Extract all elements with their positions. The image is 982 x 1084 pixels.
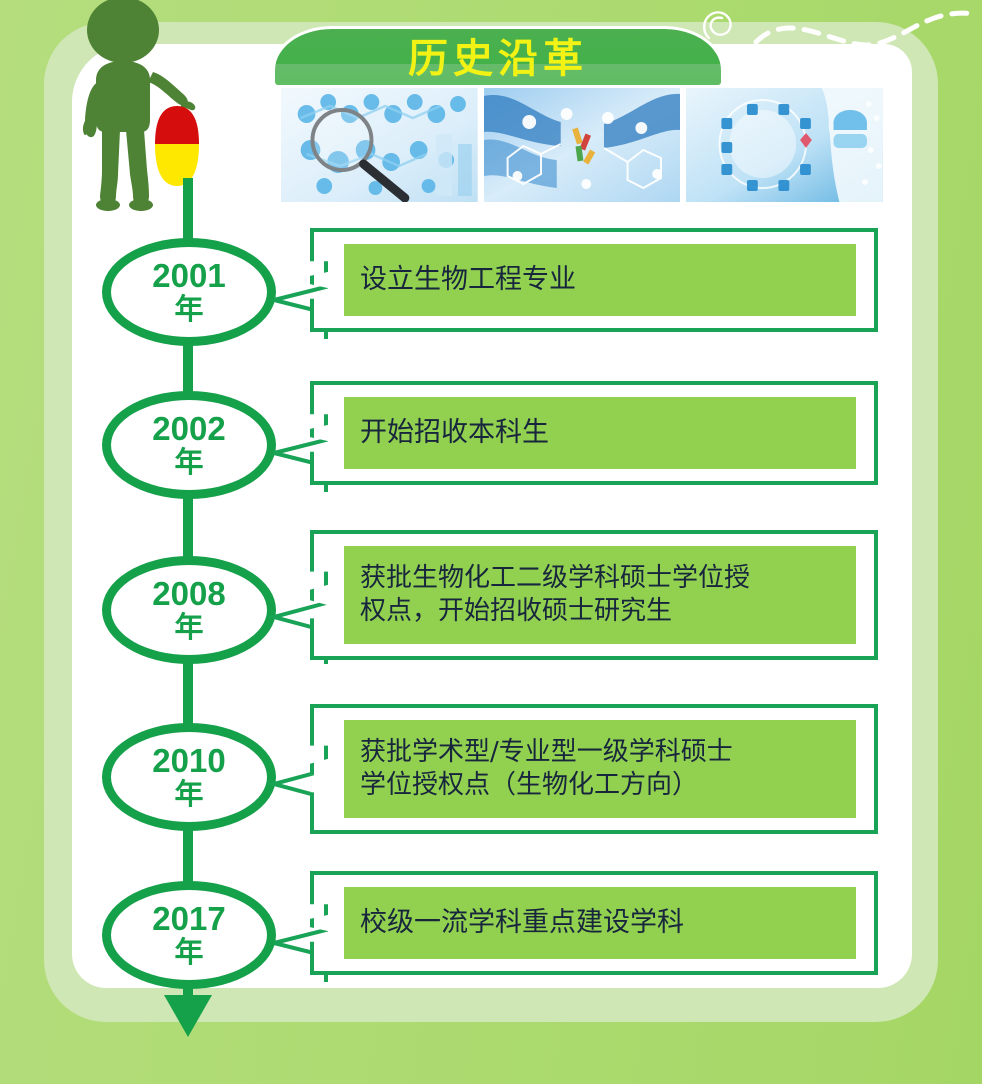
- timeline-node-2002[interactable]: 2002 年: [102, 391, 276, 499]
- timeline-callout-2010[interactable]: 获批学术型/专业型一级学科硕士 学位授权点（生物化工方向）: [310, 704, 878, 834]
- medical-tech-interface-photo: [686, 88, 883, 202]
- callout-inner-panel: 设立生物工程专业: [344, 244, 856, 316]
- callout-text: 开始招收本科生: [344, 415, 557, 450]
- node-year-suffix: 年: [174, 295, 203, 325]
- gloved-hands-molecule-photo: [484, 88, 681, 202]
- timeline-node-2001[interactable]: 2001 年: [102, 238, 276, 346]
- node-year-suffix: 年: [174, 780, 203, 810]
- title-banner: 历史沿革: [272, 26, 724, 88]
- timeline-callout-2017[interactable]: 校级一流学科重点建设学科: [310, 871, 878, 975]
- slide-root: 历史沿革: [0, 0, 982, 1084]
- node-year-suffix: 年: [174, 448, 203, 478]
- node-year-label: 2010: [152, 744, 225, 778]
- callout-text: 获批学术型/专业型一级学科硕士 学位授权点（生物化工方向）: [344, 736, 741, 802]
- timeline-node-2017[interactable]: 2017 年: [102, 881, 276, 989]
- callout-inner-panel: 获批学术型/专业型一级学科硕士 学位授权点（生物化工方向）: [344, 720, 856, 818]
- timeline-callout-2008[interactable]: 获批生物化工二级学科硕士学位授 权点，开始招收硕士研究生: [310, 530, 878, 660]
- down-arrow-icon: [164, 995, 212, 1037]
- page-title: 历史沿革: [408, 35, 588, 79]
- photo-strip: [281, 88, 883, 202]
- callout-text: 校级一流学科重点建设学科: [344, 905, 692, 940]
- pill-capsule-icon: [152, 104, 202, 188]
- timeline-node-2008[interactable]: 2008 年: [102, 556, 276, 664]
- callout-text: 获批生物化工二级学科硕士学位授 权点，开始招收硕士研究生: [344, 562, 758, 628]
- dna-magnifier-photo: [281, 88, 478, 202]
- callout-inner-panel: 校级一流学科重点建设学科: [344, 887, 856, 959]
- node-year-label: 2002: [152, 412, 225, 446]
- timeline-callout-2001[interactable]: 设立生物工程专业: [310, 228, 878, 332]
- node-year-suffix: 年: [174, 613, 203, 643]
- node-year-label: 2017: [152, 902, 225, 936]
- callout-inner-panel: 获批生物化工二级学科硕士学位授 权点，开始招收硕士研究生: [344, 546, 856, 644]
- callout-text: 设立生物工程专业: [344, 262, 584, 297]
- timeline-callout-2002[interactable]: 开始招收本科生: [310, 381, 878, 485]
- timeline-node-2010[interactable]: 2010 年: [102, 723, 276, 831]
- callout-inner-panel: 开始招收本科生: [344, 397, 856, 469]
- node-year-label: 2001: [152, 259, 225, 293]
- node-year-label: 2008: [152, 577, 225, 611]
- node-year-suffix: 年: [174, 938, 203, 968]
- dashed-swirl-icon: [700, 0, 982, 72]
